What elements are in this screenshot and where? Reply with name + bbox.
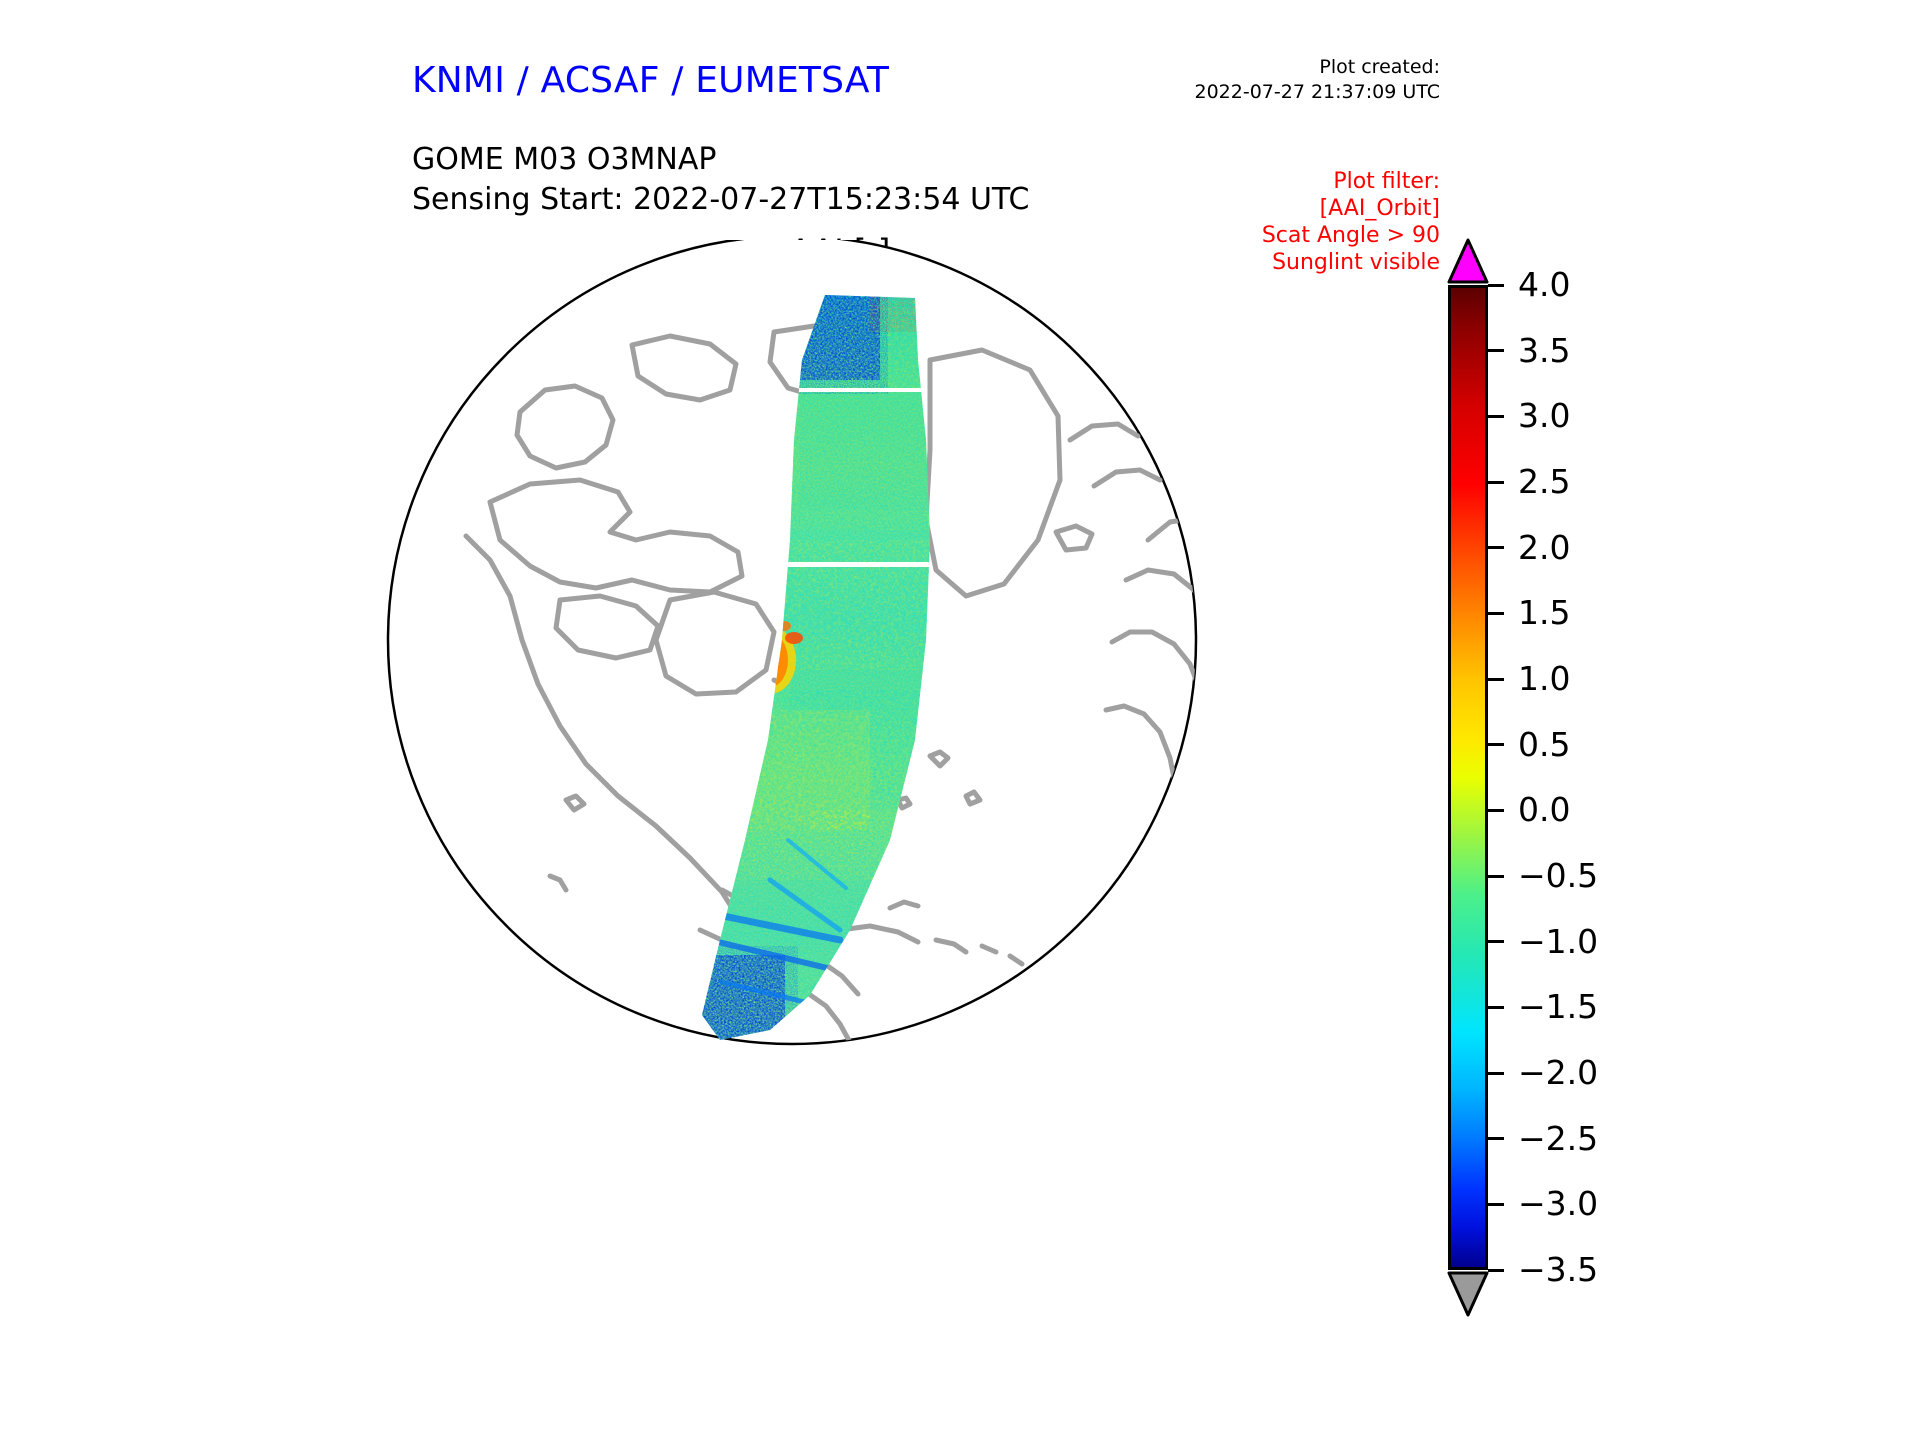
colorbar-under-arrow [1447, 1271, 1489, 1317]
colorbar: 4.0 3.5 3.0 2.5 2.0 1.5 1.0 0.5 0.0 −0.5… [1448, 285, 1488, 1270]
product-instrument-line: GOME M03 O3MNAP [412, 140, 1029, 180]
plot-created-block: Plot created: 2022-07-27 21:37:09 UTC [1100, 55, 1440, 105]
product-info-block: GOME M03 O3MNAP Sensing Start: 2022-07-2… [412, 140, 1029, 220]
plot-filter-name: [AAI_Orbit] [1100, 195, 1440, 222]
colorbar-over-arrow [1447, 238, 1489, 284]
plot-created-label: Plot created: [1100, 55, 1440, 80]
orthographic-map [370, 240, 1215, 1085]
plot-filter-label: Plot filter: [1100, 168, 1440, 195]
colorbar-ticks: 4.0 3.5 3.0 2.5 2.0 1.5 1.0 0.5 0.0 −0.5… [1488, 285, 1788, 1270]
colorbar-gradient [1448, 285, 1488, 1270]
plot-created-timestamp: 2022-07-27 21:37:09 UTC [1100, 80, 1440, 105]
product-sensing-line: Sensing Start: 2022-07-27T15:23:54 UTC [412, 180, 1029, 220]
brand-header: KNMI / ACSAF / EUMETSAT [412, 60, 889, 101]
